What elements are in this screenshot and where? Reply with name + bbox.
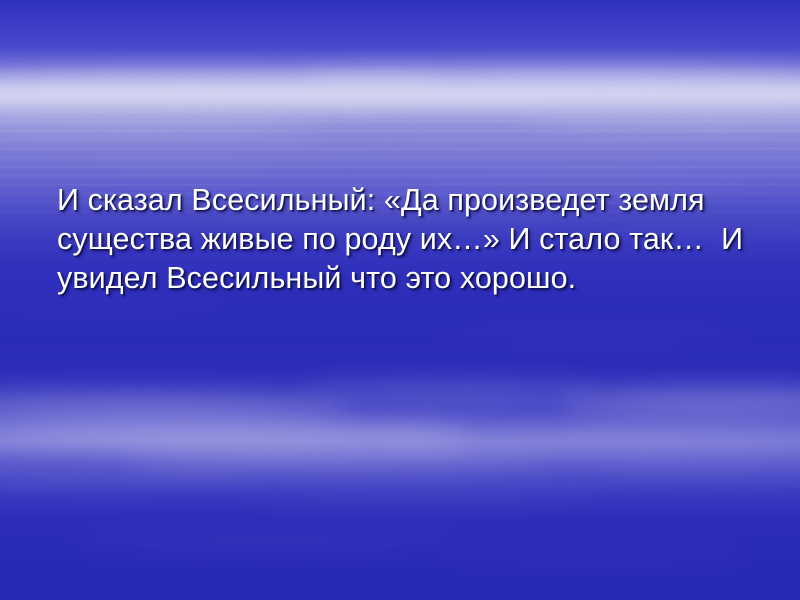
water-ripple-streaks [0,0,800,600]
wisp-group [0,0,800,600]
background-gradient [0,0,800,600]
slide-body-text: И сказал Всесильный: «Да произведет земл… [57,181,763,298]
slide-canvas: И сказал Всесильный: «Да произведет земл… [0,0,800,600]
